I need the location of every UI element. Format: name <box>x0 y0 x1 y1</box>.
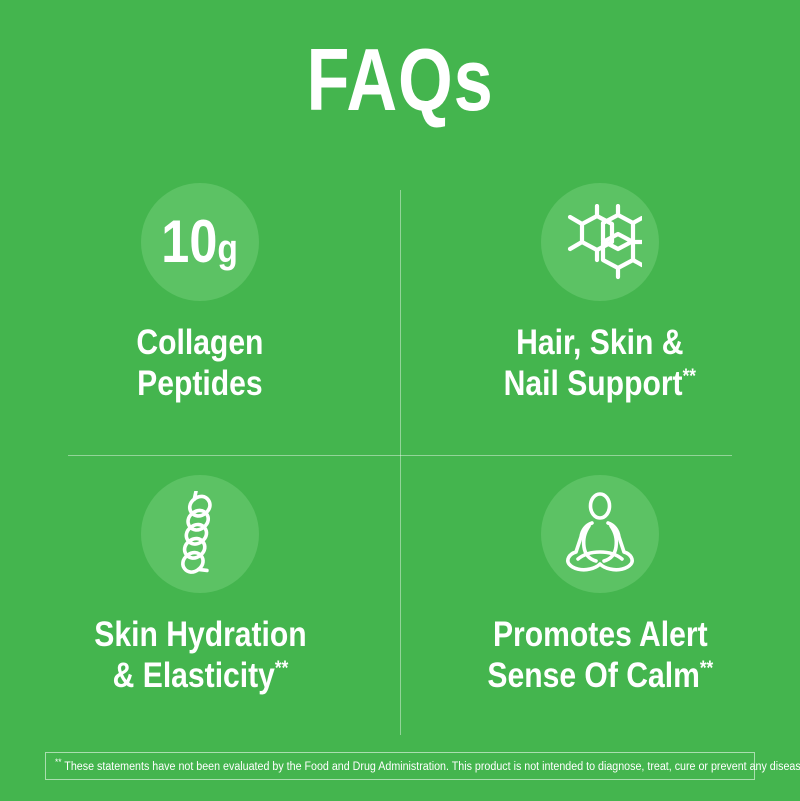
benefit-label: Skin Hydration & Elasticity** <box>94 615 306 696</box>
benefit-footnote-marker: ** <box>274 657 287 679</box>
meditating-person-icon <box>556 492 644 576</box>
molecule-hexagons-icon <box>558 204 642 280</box>
page-title: FAQs <box>80 36 720 124</box>
icon-circle <box>541 183 659 301</box>
benefit-item-collagen-peptides: 10g Collagen Peptides <box>0 165 400 445</box>
disclaimer-text: ** These statements have not been evalua… <box>55 758 800 773</box>
benefit-label-line2: Peptides <box>137 364 262 403</box>
benefit-label-line2: Sense Of Calm <box>487 656 699 695</box>
benefits-grid: 10g Collagen Peptides <box>0 165 800 725</box>
benefit-label-line1: Skin Hydration <box>94 615 306 654</box>
benefit-item-hair-skin-nail: Hair, Skin & Nail Support** <box>400 165 800 445</box>
benefit-item-skin-hydration: Skin Hydration & Elasticity** <box>0 455 400 735</box>
benefit-label-line2: & Elasticity <box>112 656 274 695</box>
benefit-label: Collagen Peptides <box>136 323 263 404</box>
benefit-label: Promotes Alert Sense Of Calm** <box>487 615 713 696</box>
amount-number: 10 <box>162 212 218 272</box>
collagen-coil-icon <box>157 491 243 577</box>
benefit-label-line1: Collagen <box>136 323 263 362</box>
benefit-label: Hair, Skin & Nail Support** <box>504 323 696 404</box>
benefit-footnote-marker: ** <box>683 365 696 387</box>
benefit-footnote-marker: ** <box>700 657 713 679</box>
icon-circle: 10g <box>141 183 259 301</box>
icon-circle <box>541 475 659 593</box>
benefit-label-line1: Hair, Skin & <box>516 323 683 362</box>
icon-circle <box>141 475 259 593</box>
amount-unit: g <box>218 229 239 269</box>
benefit-label-line2: Nail Support <box>504 364 683 403</box>
benefit-label-line1: Promotes Alert <box>493 615 708 654</box>
benefit-item-sense-of-calm: Promotes Alert Sense Of Calm** <box>400 455 800 735</box>
disclaimer-box: ** These statements have not been evalua… <box>45 752 755 780</box>
amount-10g-icon: 10g <box>162 212 239 272</box>
disclaimer-body: These statements have not been evaluated… <box>62 761 800 773</box>
